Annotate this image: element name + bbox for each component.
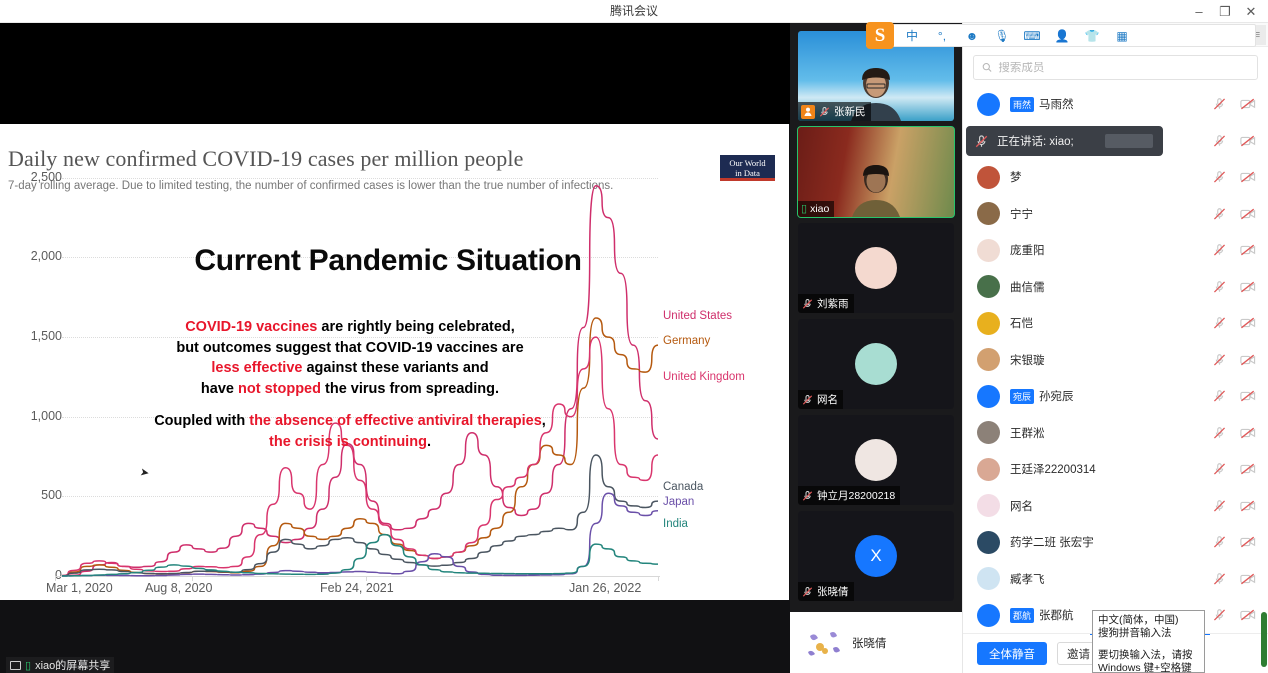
chinese-mode-icon[interactable]: 中 bbox=[897, 24, 927, 47]
series-line-japan bbox=[62, 493, 658, 576]
participant-row[interactable]: 王群淞 bbox=[963, 415, 1268, 452]
avatar bbox=[855, 343, 897, 385]
tencent-meeting-window: 腾讯会议 – ❐ ✕ Daily new confirmed COVID-19 … bbox=[0, 0, 1268, 673]
camera-off-icon[interactable] bbox=[1240, 170, 1256, 184]
participant-controls bbox=[1212, 389, 1256, 403]
participant-controls bbox=[1212, 97, 1256, 111]
participant-row[interactable]: 石恺 bbox=[963, 305, 1268, 342]
participant-name: 药学二班 张宏宇 bbox=[1010, 537, 1094, 549]
avatar bbox=[977, 458, 1000, 481]
para2-line1-post: , bbox=[542, 413, 546, 429]
punctuation-icon[interactable]: °, bbox=[927, 24, 957, 47]
para2-line1-red: the absence of effective antiviral thera… bbox=[249, 413, 542, 429]
participant-name-cell: 雨然马雨然 bbox=[1010, 96, 1202, 112]
series-line-canada bbox=[62, 455, 658, 576]
invite-label: 邀请 bbox=[1067, 646, 1090, 662]
para2-line1-pre: Coupled with bbox=[154, 413, 249, 429]
series-label: Germany bbox=[663, 335, 710, 347]
participant-name: 王群淞 bbox=[1010, 428, 1045, 440]
participant-name: 张郡航 bbox=[1039, 610, 1074, 622]
share-letterbox-bottom bbox=[0, 600, 790, 673]
para2-line2-red: the crisis is continuing bbox=[269, 434, 427, 450]
mic-muted-icon[interactable] bbox=[1212, 316, 1227, 330]
participant-name-cell: 王廷泽22200314 bbox=[1010, 461, 1202, 477]
para1-line4-red: not stopped bbox=[238, 381, 321, 397]
search-icon bbox=[982, 62, 992, 73]
mic-muted-icon[interactable] bbox=[1212, 462, 1227, 476]
avatar bbox=[977, 239, 1000, 262]
participant-name-cell: 曲信儒 bbox=[1010, 279, 1202, 295]
para1-line2: but outcomes suggest that COVID-19 vacci… bbox=[176, 340, 523, 356]
camera-off-icon[interactable] bbox=[1240, 426, 1256, 440]
series-label: Japan bbox=[663, 496, 694, 508]
video-tile-name: 钟立月28200218 bbox=[817, 488, 895, 503]
participant-controls bbox=[1212, 353, 1256, 367]
participant-controls bbox=[1212, 316, 1256, 330]
participant-name: 孙宛辰 bbox=[1039, 391, 1074, 403]
search-input[interactable] bbox=[998, 62, 1249, 74]
speaking-tooltip-text: 正在讲话: xiao; bbox=[997, 133, 1074, 149]
ime-tooltip-line4: Windows 键+空格键 bbox=[1098, 662, 1199, 673]
participant-name: 曲信儒 bbox=[1010, 282, 1045, 294]
participant-row[interactable]: 药学二班 张宏宇 bbox=[963, 524, 1268, 561]
preview-participant-name: 张晓倩 bbox=[852, 635, 887, 651]
participants-panel: ⧉ ✕ ≡ 正在讲话: xiao; bbox=[962, 23, 1268, 673]
participant-name: 宁宁 bbox=[1010, 209, 1033, 221]
mic-muted-icon[interactable] bbox=[1212, 389, 1227, 403]
participant-name-cell: 石恺 bbox=[1010, 315, 1202, 331]
user-icon[interactable]: 👤 bbox=[1047, 24, 1077, 47]
participant-name: 马雨然 bbox=[1039, 99, 1074, 111]
mic-muted-icon[interactable] bbox=[1212, 426, 1227, 440]
participant-name: 石恺 bbox=[1010, 318, 1033, 330]
mic-muted-icon[interactable] bbox=[1212, 353, 1227, 367]
slide-heading: Current Pandemic Situation bbox=[128, 244, 648, 278]
video-tile-nameplate: 刘紫雨 bbox=[798, 294, 854, 313]
mic-muted-icon[interactable] bbox=[1212, 499, 1227, 513]
emoji-icon[interactable]: ☻ bbox=[957, 24, 987, 47]
series-label: United Kingdom bbox=[663, 371, 745, 383]
participant-controls bbox=[1212, 207, 1256, 221]
participant-name: 王廷泽22200314 bbox=[1010, 464, 1096, 476]
ime-tooltip-line3: 要切换输入法，请按 bbox=[1098, 649, 1199, 662]
mic-muted-icon[interactable] bbox=[1212, 207, 1227, 221]
camera-off-icon[interactable] bbox=[1240, 97, 1256, 111]
toolbox-icon[interactable]: ▦ bbox=[1107, 24, 1137, 47]
mic-muted-icon[interactable] bbox=[1212, 535, 1227, 549]
mic-muted-icon bbox=[974, 134, 989, 149]
ime-language-tooltip: 中文(简体，中国) 搜狗拼音输入法 要切换输入法，请按 Windows 键+空格… bbox=[1092, 610, 1205, 673]
mic-muted-icon bbox=[818, 106, 831, 118]
avatar bbox=[977, 348, 1000, 371]
video-tile-name: 网名 bbox=[817, 392, 838, 407]
video-thumbnail-strip[interactable]: 张新民▯xiao刘紫雨网名钟立月28200218X张晓倩 bbox=[790, 23, 962, 673]
ime-tooltip-line2: 搜狗拼音输入法 bbox=[1098, 627, 1199, 640]
participant-row[interactable]: 梦 bbox=[963, 159, 1268, 196]
mic-muted-icon bbox=[801, 586, 814, 598]
soft-keyboard-icon[interactable]: ⌨ bbox=[1017, 24, 1047, 47]
avatar: X bbox=[855, 535, 897, 577]
camera-off-icon[interactable] bbox=[1240, 572, 1256, 586]
camera-off-icon[interactable] bbox=[1240, 462, 1256, 476]
participant-row[interactable]: 宛辰孙宛辰 bbox=[963, 378, 1268, 415]
avatar bbox=[977, 202, 1000, 225]
para1-line4-rest: the virus from spreading. bbox=[321, 381, 499, 397]
participant-name: 臧孝飞 bbox=[1010, 574, 1045, 586]
slide-body-text: COVID-19 vaccines are rightly being cele… bbox=[60, 317, 640, 452]
voice-input-icon[interactable]: 🎙 bbox=[987, 24, 1017, 47]
mic-muted-icon bbox=[801, 394, 814, 406]
screen-share-status-label: xiao的屏幕共享 bbox=[35, 657, 110, 673]
video-tile[interactable]: 网名 bbox=[798, 319, 954, 409]
window-title: 腾讯会议 bbox=[0, 0, 1268, 23]
series-label: India bbox=[663, 518, 688, 530]
participant-controls bbox=[1212, 280, 1256, 294]
mic-muted-icon[interactable] bbox=[1212, 243, 1227, 257]
participant-name: 网名 bbox=[1010, 501, 1033, 513]
camera-off-icon[interactable] bbox=[1240, 353, 1256, 367]
participant-controls bbox=[1212, 499, 1256, 513]
camera-off-icon[interactable] bbox=[1240, 316, 1256, 330]
mute-all-button[interactable]: 全体静音 bbox=[977, 642, 1047, 665]
maximize-restore-button[interactable]: ❐ bbox=[1212, 0, 1238, 23]
avatar bbox=[977, 275, 1000, 298]
series-label: Canada bbox=[663, 481, 703, 493]
blurred-region bbox=[1105, 134, 1153, 148]
participant-controls bbox=[1212, 134, 1256, 148]
mic-muted-icon bbox=[801, 298, 814, 310]
avatar bbox=[977, 567, 1000, 590]
mic-muted-icon[interactable] bbox=[1212, 134, 1227, 148]
participant-name-cell: 臧孝飞 bbox=[1010, 571, 1202, 587]
para1-line3-rest: against these variants and bbox=[302, 360, 488, 376]
share-letterbox-top bbox=[0, 23, 790, 124]
participant-controls bbox=[1212, 572, 1256, 586]
screen-share-preview-overlay: 张晓倩 bbox=[790, 612, 962, 673]
participant-controls bbox=[1212, 243, 1256, 257]
search-box[interactable] bbox=[973, 55, 1258, 80]
participant-name-cell: 庞重阳 bbox=[1010, 242, 1202, 258]
participant-row[interactable]: 庞重阳 bbox=[963, 232, 1268, 269]
mic-on-icon: ▯ bbox=[25, 659, 31, 672]
para1-line4-pre: have bbox=[201, 381, 238, 397]
participant-name-cell: 药学二班 张宏宇 bbox=[1010, 534, 1202, 550]
participant-row[interactable]: 王廷泽22200314 bbox=[963, 451, 1268, 488]
participant-name: 宋银璇 bbox=[1010, 355, 1045, 367]
minimize-button[interactable]: – bbox=[1186, 0, 1212, 23]
participant-controls bbox=[1212, 535, 1256, 549]
sogou-ime-toolbar[interactable]: 中°,☻🎙⌨👤👕▦ bbox=[866, 24, 1256, 47]
avatar bbox=[977, 312, 1000, 335]
avatar bbox=[855, 247, 897, 289]
mic-on-icon: ▯ bbox=[801, 204, 807, 215]
mic-muted-icon[interactable] bbox=[1212, 572, 1227, 586]
avatar bbox=[977, 421, 1000, 444]
video-tile-name: xiao bbox=[810, 203, 829, 215]
window-controls: – ❐ ✕ bbox=[1186, 0, 1264, 23]
participant-name-cell: 宁宁 bbox=[1010, 206, 1202, 222]
participant-row[interactable]: 雨然马雨然 bbox=[963, 86, 1268, 123]
participant-controls bbox=[1212, 426, 1256, 440]
mic-muted-icon bbox=[801, 490, 814, 502]
participant-name-cell: 宋银璇 bbox=[1010, 352, 1202, 368]
camera-off-icon[interactable] bbox=[1240, 207, 1256, 221]
shared-slide: Daily new confirmed COVID-19 cases per m… bbox=[0, 124, 789, 600]
camera-off-icon[interactable] bbox=[1240, 535, 1256, 549]
participant-row[interactable]: 宁宁 bbox=[963, 196, 1268, 233]
video-tile[interactable]: 钟立月28200218 bbox=[798, 415, 954, 505]
participant-row[interactable]: 曲信儒 bbox=[963, 269, 1268, 306]
skin-icon[interactable]: 👕 bbox=[1077, 24, 1107, 47]
video-tile-nameplate: 钟立月28200218 bbox=[798, 486, 900, 505]
para1-line1-rest: are rightly being celebrated, bbox=[317, 319, 514, 335]
participant-name-cell: 王群淞 bbox=[1010, 425, 1202, 441]
participant-controls bbox=[1212, 170, 1256, 184]
video-tile-nameplate: 网名 bbox=[798, 390, 843, 409]
participant-tag: 郡航 bbox=[1010, 608, 1034, 623]
avatar bbox=[977, 93, 1000, 116]
sogou-logo-icon[interactable]: S bbox=[866, 22, 894, 49]
video-tile-name: 张新民 bbox=[834, 104, 866, 119]
doodle-icon bbox=[806, 628, 844, 658]
participant-name: 庞重阳 bbox=[1010, 245, 1045, 257]
avatar bbox=[977, 385, 1000, 408]
participant-row[interactable]: 臧孝飞 bbox=[963, 561, 1268, 598]
camera-off-icon[interactable] bbox=[1240, 389, 1256, 403]
participant-controls bbox=[1212, 608, 1256, 622]
mic-muted-icon[interactable] bbox=[1212, 97, 1227, 111]
participant-list[interactable]: 正在讲话: xiao; 雨然马雨然马欣宇29200325梦宁宁庞重阳曲信儒石恺宋… bbox=[963, 86, 1268, 647]
camera-off-icon[interactable] bbox=[1240, 280, 1256, 294]
mic-muted-icon[interactable] bbox=[1212, 280, 1227, 294]
para1-line3-red: less effective bbox=[211, 360, 302, 376]
video-tile-name: 张晓倩 bbox=[817, 584, 849, 599]
mic-muted-icon[interactable] bbox=[1212, 608, 1227, 622]
participant-row[interactable]: 宋银璇 bbox=[963, 342, 1268, 379]
participant-name-cell: 梦 bbox=[1010, 169, 1202, 185]
series-line-india bbox=[62, 535, 658, 576]
close-button[interactable]: ✕ bbox=[1238, 0, 1264, 23]
participant-name: 梦 bbox=[1010, 172, 1022, 184]
camera-off-icon[interactable] bbox=[1240, 243, 1256, 257]
camera-off-icon[interactable] bbox=[1240, 608, 1256, 622]
screen-icon bbox=[10, 661, 21, 670]
participant-tag: 雨然 bbox=[1010, 97, 1034, 112]
person-silhouette bbox=[847, 159, 905, 217]
video-tile-nameplate: 张晓倩 bbox=[798, 582, 854, 601]
avatar bbox=[855, 439, 897, 481]
screen-share-status-badge: ▯ xiao的屏幕共享 bbox=[6, 657, 114, 673]
title-bar: 腾讯会议 – ❐ ✕ bbox=[0, 0, 1268, 23]
avatar bbox=[977, 166, 1000, 189]
speaking-tooltip: 正在讲话: xiao; bbox=[966, 126, 1163, 156]
video-tile-nameplate: ▯xiao bbox=[798, 201, 834, 217]
participant-name-cell: 宛辰孙宛辰 bbox=[1010, 388, 1202, 404]
search-row bbox=[963, 47, 1268, 86]
mic-muted-icon[interactable] bbox=[1212, 170, 1227, 184]
video-tile[interactable]: ▯xiao bbox=[798, 127, 954, 217]
host-badge-icon bbox=[801, 105, 815, 119]
shared-screen-view[interactable]: Daily new confirmed COVID-19 cases per m… bbox=[0, 23, 790, 673]
avatar bbox=[977, 531, 1000, 554]
camera-off-icon[interactable] bbox=[1240, 499, 1256, 513]
ime-tooltip-line1: 中文(简体，中国) bbox=[1098, 614, 1199, 627]
participant-name-cell: 网名 bbox=[1010, 498, 1202, 514]
para1-line1-red: COVID-19 vaccines bbox=[185, 319, 317, 335]
video-tile[interactable]: 刘紫雨 bbox=[798, 223, 954, 313]
video-tile-name: 刘紫雨 bbox=[817, 296, 849, 311]
participant-row[interactable]: 网名 bbox=[963, 488, 1268, 525]
video-tile-nameplate: 张新民 bbox=[798, 102, 871, 121]
avatar bbox=[977, 494, 1000, 517]
camera-off-icon[interactable] bbox=[1240, 134, 1256, 148]
para2-line2-post: . bbox=[427, 434, 431, 450]
video-tile[interactable]: X张晓倩 bbox=[798, 511, 954, 601]
avatar bbox=[977, 604, 1000, 627]
scrollbar-thumb[interactable] bbox=[1261, 612, 1267, 667]
participant-controls bbox=[1212, 462, 1256, 476]
series-label: United States bbox=[663, 310, 732, 322]
participant-tag: 宛辰 bbox=[1010, 389, 1034, 404]
